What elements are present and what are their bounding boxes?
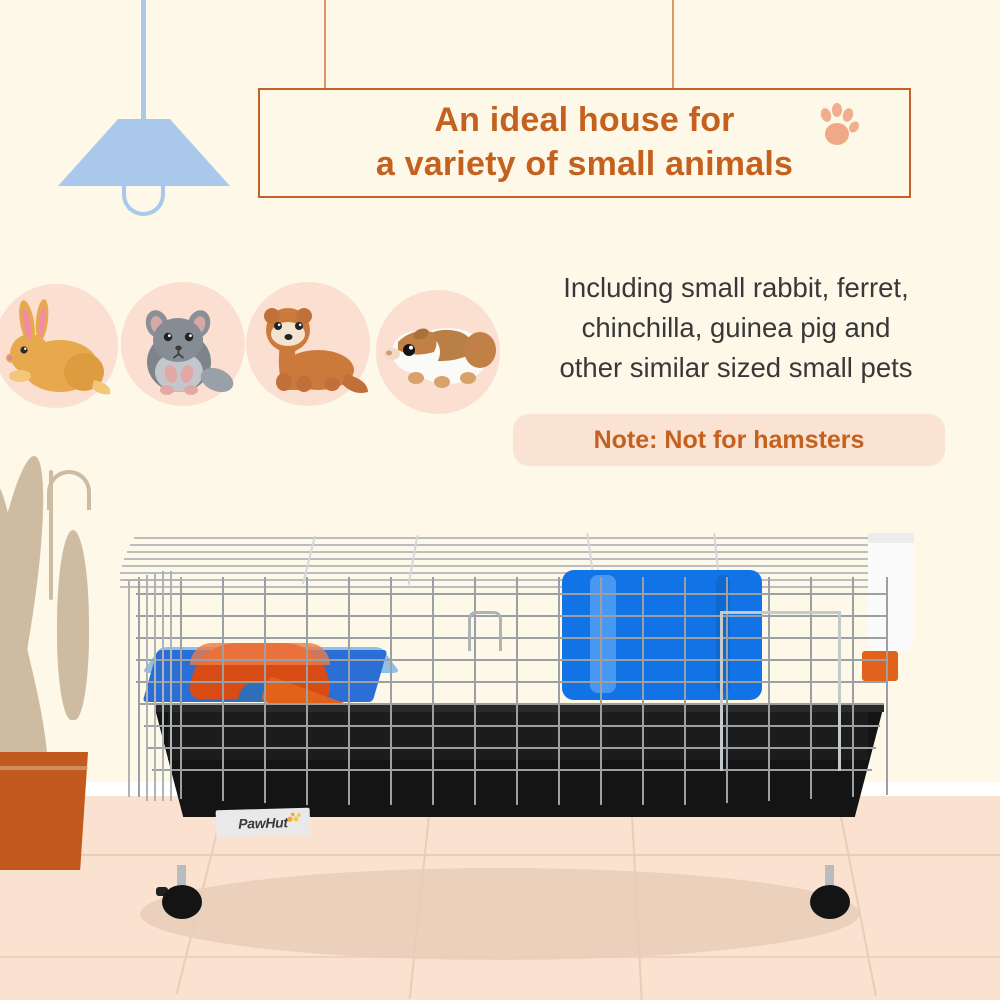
page-title: An ideal house for a variety of small an…	[376, 99, 793, 186]
note-badge: Note: Not for hamsters	[513, 414, 945, 466]
description-line-2: chinchilla, guinea pig and	[582, 312, 891, 343]
caster-wheel-right	[810, 875, 850, 915]
water-bottle-cap	[868, 533, 914, 543]
brand-paw-dots-icon	[287, 812, 303, 824]
guinea-pig-icon	[376, 290, 500, 414]
rabbit-icon	[0, 284, 118, 408]
cage: PawHut	[120, 515, 910, 955]
description-line-1: Including small rabbit, ferret,	[563, 272, 908, 303]
chinchilla-icon	[121, 282, 245, 406]
caster-wheel-left	[162, 875, 202, 915]
brand-name: PawHut	[238, 814, 288, 831]
brand-logo-plate: PawHut	[216, 808, 311, 838]
water-bottle	[868, 533, 914, 651]
cage-latch[interactable]	[468, 611, 502, 651]
animal-icon-row	[0, 282, 506, 410]
note-text: Note: Not for hamsters	[594, 426, 865, 455]
description-line-3: other similar sized small pets	[559, 352, 912, 383]
headline-line-2: a variety of small animals	[376, 145, 793, 183]
paw-print-icon	[813, 102, 861, 150]
product-image-small-animal-cage: PawHut	[120, 515, 910, 955]
headline-line-1: An ideal house for	[434, 101, 734, 139]
headline-box: An ideal house for a variety of small an…	[258, 88, 911, 198]
ferret-icon	[246, 282, 370, 406]
marketing-image-canvas: An ideal house for a variety of small an…	[0, 0, 1000, 1000]
header-guide-line-left	[324, 0, 326, 90]
header-guide-line-right	[672, 0, 674, 90]
hideout-highlight	[190, 643, 330, 665]
water-bottle-bracket	[862, 651, 898, 681]
base-tray-interior	[168, 708, 868, 760]
description-text: Including small rabbit, ferret, chinchil…	[505, 268, 967, 388]
